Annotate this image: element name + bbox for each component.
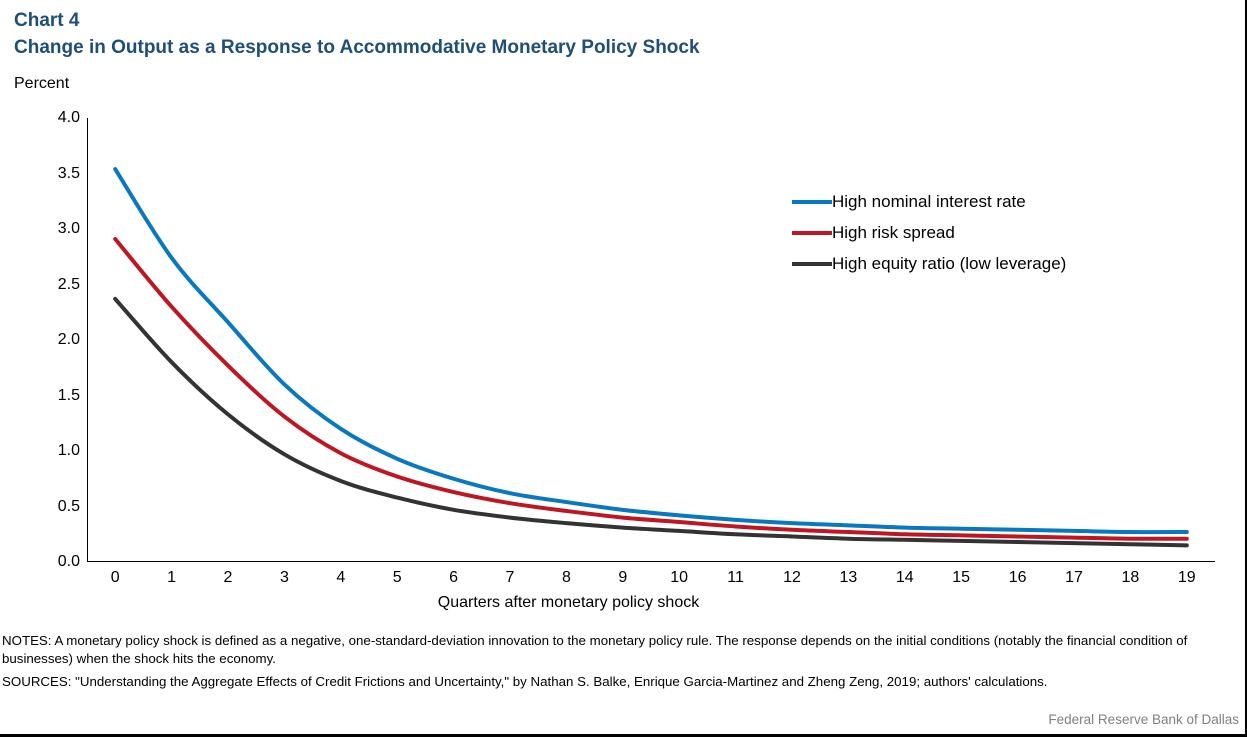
legend-item: High equity ratio (low leverage) [792,248,1066,279]
x-tick-label: 5 [377,568,417,588]
legend-item: High nominal interest rate [792,186,1066,217]
y-axis-unit-label: Percent [14,74,69,94]
legend-swatch-icon [792,262,832,266]
x-tick-label: 11 [716,568,756,588]
notes-text: NOTES: A monetary policy shock is define… [2,632,1227,667]
y-tick-label: 1.0 [8,443,80,459]
legend-label: High equity ratio (low leverage) [832,254,1066,274]
chart-number-label: Chart 4 [14,8,700,34]
x-tick-label: 8 [546,568,586,588]
title-block: Chart 4 Change in Output as a Response t… [14,8,700,61]
y-axis-tick-labels: 0.00.51.01.52.02.53.03.54.0 [0,118,80,562]
x-tick-label: 10 [659,568,699,588]
series-line-1 [115,239,1187,539]
legend-label: High risk spread [832,223,955,243]
x-tick-label: 1 [152,568,192,588]
y-tick-label: 0.5 [8,499,80,515]
legend-swatch-icon [792,200,832,204]
x-tick-label: 16 [998,568,1038,588]
y-tick-label: 2.0 [8,332,80,348]
x-tick-label: 15 [941,568,981,588]
y-tick-label: 3.5 [8,166,80,182]
x-tick-label: 9 [603,568,643,588]
x-tick-label: 2 [208,568,248,588]
chart-legend: High nominal interest rateHigh risk spre… [792,186,1066,279]
x-tick-label: 17 [1054,568,1094,588]
chart-page: Chart 4 Change in Output as a Response t… [0,0,1247,737]
x-axis-title: Quarters after monetary policy shock [0,594,1247,612]
footer-notes: NOTES: A monetary policy shock is define… [2,632,1227,691]
legend-label: High nominal interest rate [832,192,1026,212]
x-tick-label: 0 [95,568,135,588]
y-tick-label: 2.5 [8,277,80,293]
page-title: Change in Output as a Response to Accomm… [14,34,700,61]
x-axis-tick-labels: 012345678910111213141516171819 [87,568,1215,592]
x-tick-label: 4 [321,568,361,588]
x-tick-label: 19 [1167,568,1207,588]
x-tick-label: 3 [264,568,304,588]
y-tick-label: 3.0 [8,221,80,237]
plot-area [87,118,1215,562]
y-tick-label: 1.5 [8,388,80,404]
x-tick-label: 18 [1110,568,1150,588]
series-line-2 [115,299,1187,545]
sources-text: SOURCES: "Understanding the Aggregate Ef… [2,673,1227,691]
credit-line: Federal Reserve Bank of Dallas [1048,712,1239,727]
x-tick-label: 6 [434,568,474,588]
y-tick-label: 0.0 [8,554,80,570]
x-tick-label: 14 [885,568,925,588]
x-tick-label: 13 [828,568,868,588]
line-chart-svg [87,118,1215,562]
x-tick-label: 7 [490,568,530,588]
y-tick-label: 4.0 [8,110,80,126]
legend-item: High risk spread [792,217,1066,248]
legend-swatch-icon [792,231,832,235]
x-tick-label: 12 [772,568,812,588]
